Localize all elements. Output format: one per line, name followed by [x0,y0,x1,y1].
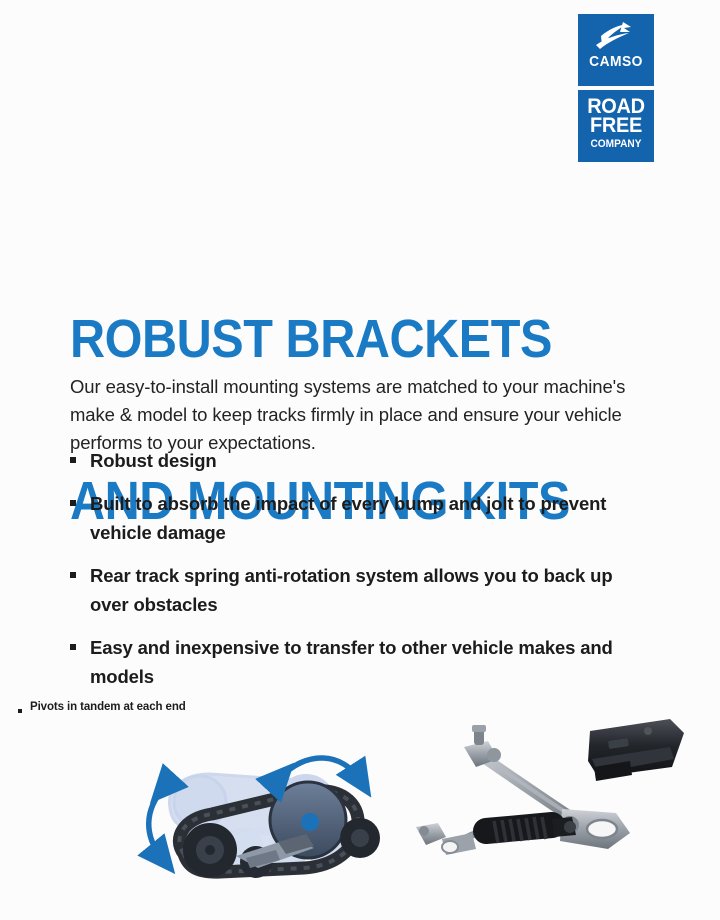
headline-line-1: ROBUST BRACKETS [70,312,570,366]
square-bullet-icon [70,489,90,518]
camso-logo-badge: CAMSO [578,14,654,86]
list-item: Easy and inexpensive to transfer to othe… [70,633,630,691]
road-free-line-2: FREE [580,116,652,135]
brand-logo-block: CAMSO ROAD FREE COMPANY [578,14,654,162]
track-system-pivot-diagram [128,730,398,905]
pivot-arrow-top [280,758,360,780]
square-bullet-icon [70,561,90,590]
square-bullet-icon [70,446,90,475]
list-item: Robust design [70,446,630,475]
bullet-text: Rear track spring anti-rotation system a… [90,561,630,619]
road-free-line-3: COMPANY [581,139,651,149]
road-free-company-badge: ROAD FREE COMPANY [578,90,654,162]
bullet-text: Robust design [90,446,630,475]
black-mounting-bracket [588,719,684,781]
list-item: Rear track spring anti-rotation system a… [70,561,630,619]
spring-damper-assembly [416,817,576,855]
camso-swoosh-mark [593,20,639,52]
footnote-text: Pivots in tandem at each end [30,700,186,714]
mounting-hardware-photo [402,715,702,890]
bullet-text: Easy and inexpensive to transfer to othe… [90,633,630,691]
figure-area [0,715,720,915]
bullet-text: Built to absorb the impact of every bump… [90,489,630,547]
pivot-arrow-left [149,788,164,858]
list-item: Built to absorb the impact of every bump… [70,489,630,547]
feature-bullet-list: Robust design Built to absorb the impact… [70,446,630,705]
camso-wordmark: CAMSO [581,54,651,70]
intro-paragraph: Our easy-to-install mounting systems are… [70,373,630,457]
square-bullet-icon [70,633,90,662]
